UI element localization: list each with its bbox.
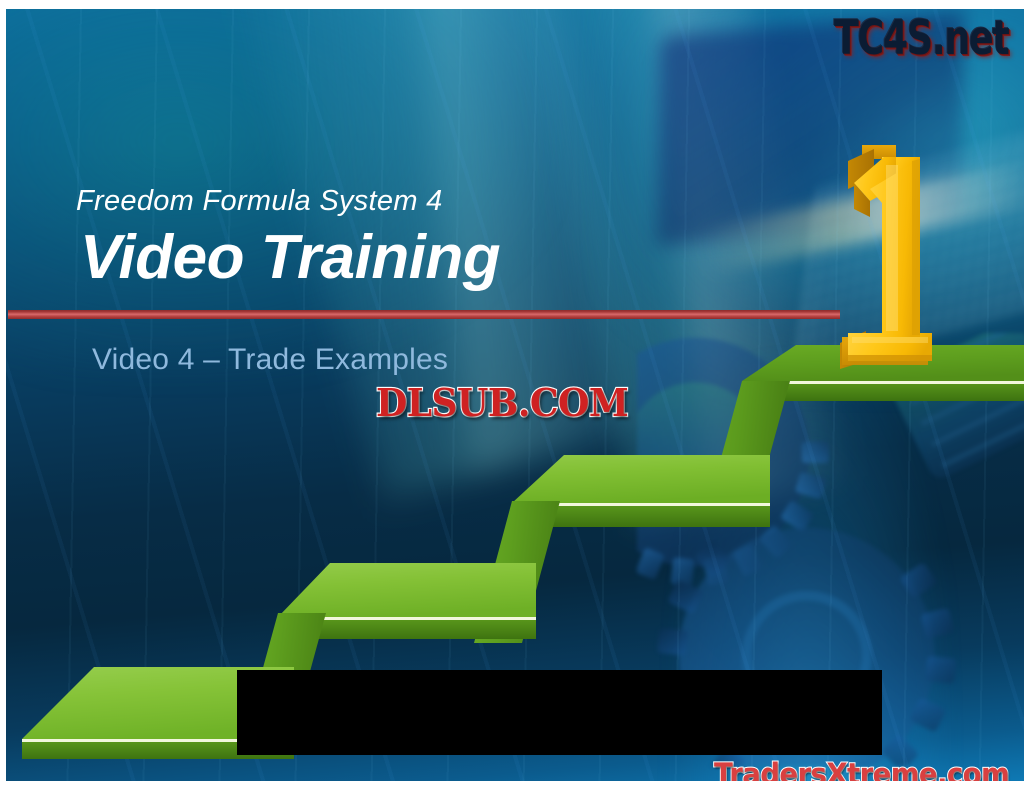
slide-canvas: Freedom Formula System 4 Video Training … [6,9,1024,781]
divider-line [8,310,840,319]
page-title: Video Training [80,222,500,293]
redaction-bar-icon [237,670,882,755]
slide-subtitle-text: Video 4 – Trade Examples [92,343,448,377]
slide-eyebrow-text: Freedom Formula System 4 [76,185,443,218]
slide-root: Freedom Formula System 4 Video Training … [0,0,1024,791]
watermark-tradersxtreme: TradersXtreme.com [714,757,1009,781]
watermark-dlsub: DLSUB.COM [376,381,628,426]
watermark-tc4s: TC4S.net [834,11,1008,66]
numeral-one-3d-icon [826,131,938,369]
